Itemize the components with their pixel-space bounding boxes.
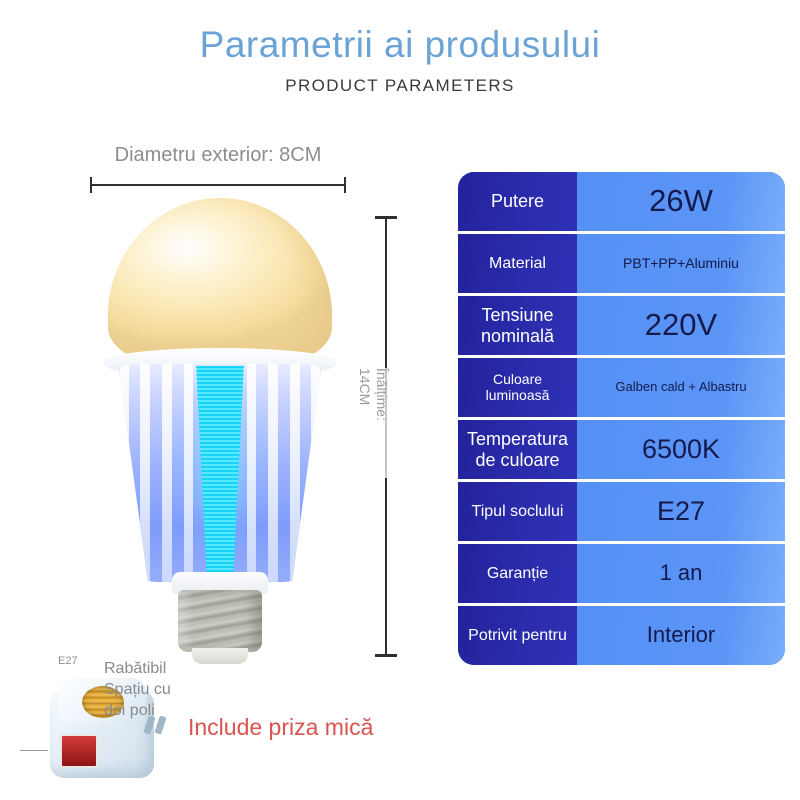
cage-fin [140,364,150,582]
param-key: Potrivit pentru [458,606,577,665]
param-key: Tensiune nominală [458,296,577,355]
param-value: Interior [577,606,785,665]
cage-fin [120,364,129,582]
param-value: 26W [577,172,785,231]
bulb-dome [108,198,332,366]
adapter-e27-label: E27 [58,655,78,667]
table-row: Material PBT+PP+Aluminiu [458,234,785,296]
cage-fin [162,364,172,582]
param-value: 6500K [577,420,785,479]
diameter-label: Diametru exterior: 8CM [68,144,368,167]
height-cap-top [375,216,397,219]
param-key: Material [458,234,577,293]
height-label: Înălțime: 14CM [356,368,390,478]
cage-fin [247,364,256,582]
bulb-uv-cage [114,364,326,582]
product-parameters-page: Parametrii ai produsului PRODUCT PARAMET… [0,0,800,800]
diameter-cap-left [90,177,92,193]
table-row: Potrivit pentru Interior [458,606,785,665]
include-socket-note: Include priza mică [188,714,373,741]
table-row: Culoare luminoasă Galben cald + Albastru [458,358,785,420]
table-row: Tensiune nominală 220V [458,296,785,358]
cage-fin [311,364,320,582]
adapter-feature-line3: doi poli [104,702,155,719]
table-row: Garanție 1 an [458,544,785,606]
param-key: Culoare luminoasă [458,358,577,417]
bulb-e27-screw-base [178,590,262,652]
diameter-dimension-line [90,184,346,186]
adapter-power-switch [60,734,98,768]
adapter-feature-line2: Spațiu cu [104,681,171,698]
param-value: 1 an [577,544,785,603]
param-key: Tipul soclului [458,482,577,541]
param-value: 220V [577,296,785,355]
parameter-table: Putere 26W Material PBT+PP+Aluminiu Tens… [458,172,785,665]
param-key: Temperatura de culoare [458,420,577,479]
param-key: Putere [458,172,577,231]
cage-fin [268,364,278,582]
led-bulb-image [96,198,344,668]
param-key: Garanție [458,544,577,603]
diameter-cap-right [344,177,346,193]
table-row: Temperatura de culoare 6500K [458,420,785,482]
adapter-feature-label: Rabătibil Spațiu cu doi poli [104,658,222,721]
page-subtitle: PRODUCT PARAMETERS [0,76,800,96]
cage-fin [184,364,193,582]
height-label-line1: Înălțime: [374,368,390,421]
adapter-leader-line [20,750,48,751]
adapter-feature-line1: Rabătibil [104,660,166,677]
table-row: Putere 26W [458,172,785,234]
table-row: Tipul soclului E27 [458,482,785,544]
height-label-line2: 14CM [357,368,373,405]
page-title: Parametrii ai produsului [0,22,800,68]
param-value: E27 [577,482,785,541]
param-value: Galben cald + Albastru [577,358,785,417]
height-cap-bottom [375,654,397,657]
param-value: PBT+PP+Aluminiu [577,234,785,293]
cage-fin [290,364,300,582]
